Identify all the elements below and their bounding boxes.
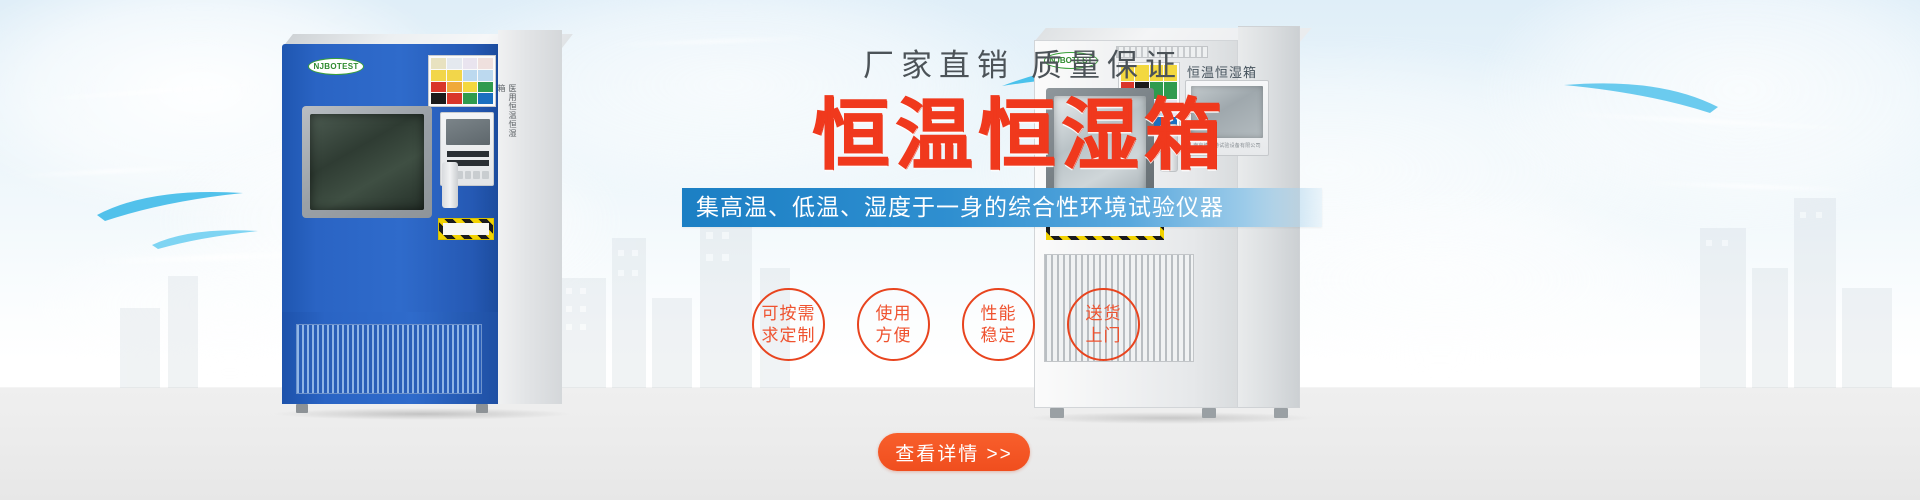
cloud-streak [40, 82, 270, 101]
ventilation-grille [296, 324, 482, 394]
chamber-foot [1202, 408, 1216, 418]
control-display [446, 119, 490, 145]
warning-label-panel [428, 55, 496, 107]
viewport-glass [310, 114, 424, 210]
product-shadow [1024, 412, 1316, 424]
feature-badge-custom[interactable]: 可按需 求定制 [752, 288, 825, 361]
warning-cell [478, 58, 493, 69]
warning-cell [447, 70, 462, 81]
feature-badge-delivery[interactable]: 送货 上门 [1067, 288, 1140, 361]
banner-subtitle-bar: 集高温、低温、湿度于一身的综合性环境试验仪器 [682, 188, 1322, 227]
feature-badge-stable[interactable]: 性能 稳定 [962, 288, 1035, 361]
product-shadow [272, 408, 572, 420]
banner-copy-block: 厂家直销质量保证 恒温恒湿箱 集高温、低温、湿度于一身的综合性环境试验仪器 [700, 50, 1340, 227]
warning-cell [463, 70, 478, 81]
warning-cell [463, 58, 478, 69]
badge-line-2: 求定制 [762, 325, 816, 347]
control-button [473, 171, 480, 179]
warning-cell [478, 93, 493, 104]
badge-line-1: 送货 [1086, 303, 1122, 325]
banner-headline: 恒温恒湿箱 [700, 95, 1340, 178]
warning-cell [463, 82, 478, 93]
warning-cell [431, 82, 446, 93]
feature-badge-easy-use[interactable]: 使用 方便 [857, 288, 930, 361]
warning-cell [431, 58, 446, 69]
tagline-part-right: 质量保证 [1031, 48, 1183, 83]
chamber-side-text: 医用恒温恒湿箱 [508, 84, 518, 140]
chamber-viewport [302, 106, 432, 218]
warning-cell [447, 82, 462, 93]
led-readout [447, 151, 489, 157]
warning-cell [431, 70, 446, 81]
chamber-foot [476, 404, 488, 413]
badge-line-2: 上门 [1086, 325, 1122, 347]
warning-cell [447, 58, 462, 69]
warning-cell [463, 93, 478, 104]
warning-cell [431, 93, 446, 104]
product-image-left-chamber: NJBOTEST 医用恒温恒湿箱 [262, 30, 562, 405]
cloud-streak [610, 36, 820, 46]
promo-banner: NJBOTEST 医用恒温恒湿箱 [0, 0, 1920, 500]
control-button [482, 171, 489, 179]
badge-line-1: 可按需 [762, 303, 816, 325]
cloud-streak [1640, 181, 1860, 192]
control-button [465, 171, 472, 179]
cyan-swoosh-decoration [150, 225, 260, 251]
badge-line-1: 使用 [876, 303, 912, 325]
brand-logo-badge: NJBOTEST [308, 58, 364, 75]
cyan-swoosh-decoration [95, 185, 245, 223]
badge-line-2: 稳定 [981, 325, 1017, 347]
cyan-swoosh-decoration [1560, 75, 1720, 115]
door-handle [442, 162, 458, 208]
banner-tagline: 厂家直销质量保证 [700, 50, 1340, 81]
badge-line-1: 性能 [981, 303, 1017, 325]
cloud-shape [1480, 0, 1920, 230]
warning-cell [478, 70, 493, 81]
warning-cell [447, 93, 462, 104]
chamber-foot [296, 404, 308, 413]
chamber-foot [1050, 408, 1064, 418]
chamber-foot [1274, 408, 1288, 418]
tagline-part-left: 厂家直销 [863, 48, 1015, 83]
cloud-streak [20, 165, 200, 177]
cloud-streak [1560, 112, 1860, 131]
feature-badge-group: 可按需 求定制 使用 方便 性能 稳定 送货 上门 [752, 288, 1140, 361]
hazard-stripe-label [438, 218, 494, 240]
view-details-button[interactable]: 查看详情 >> [878, 433, 1030, 471]
badge-line-2: 方便 [876, 325, 912, 347]
warning-cell [478, 82, 493, 93]
